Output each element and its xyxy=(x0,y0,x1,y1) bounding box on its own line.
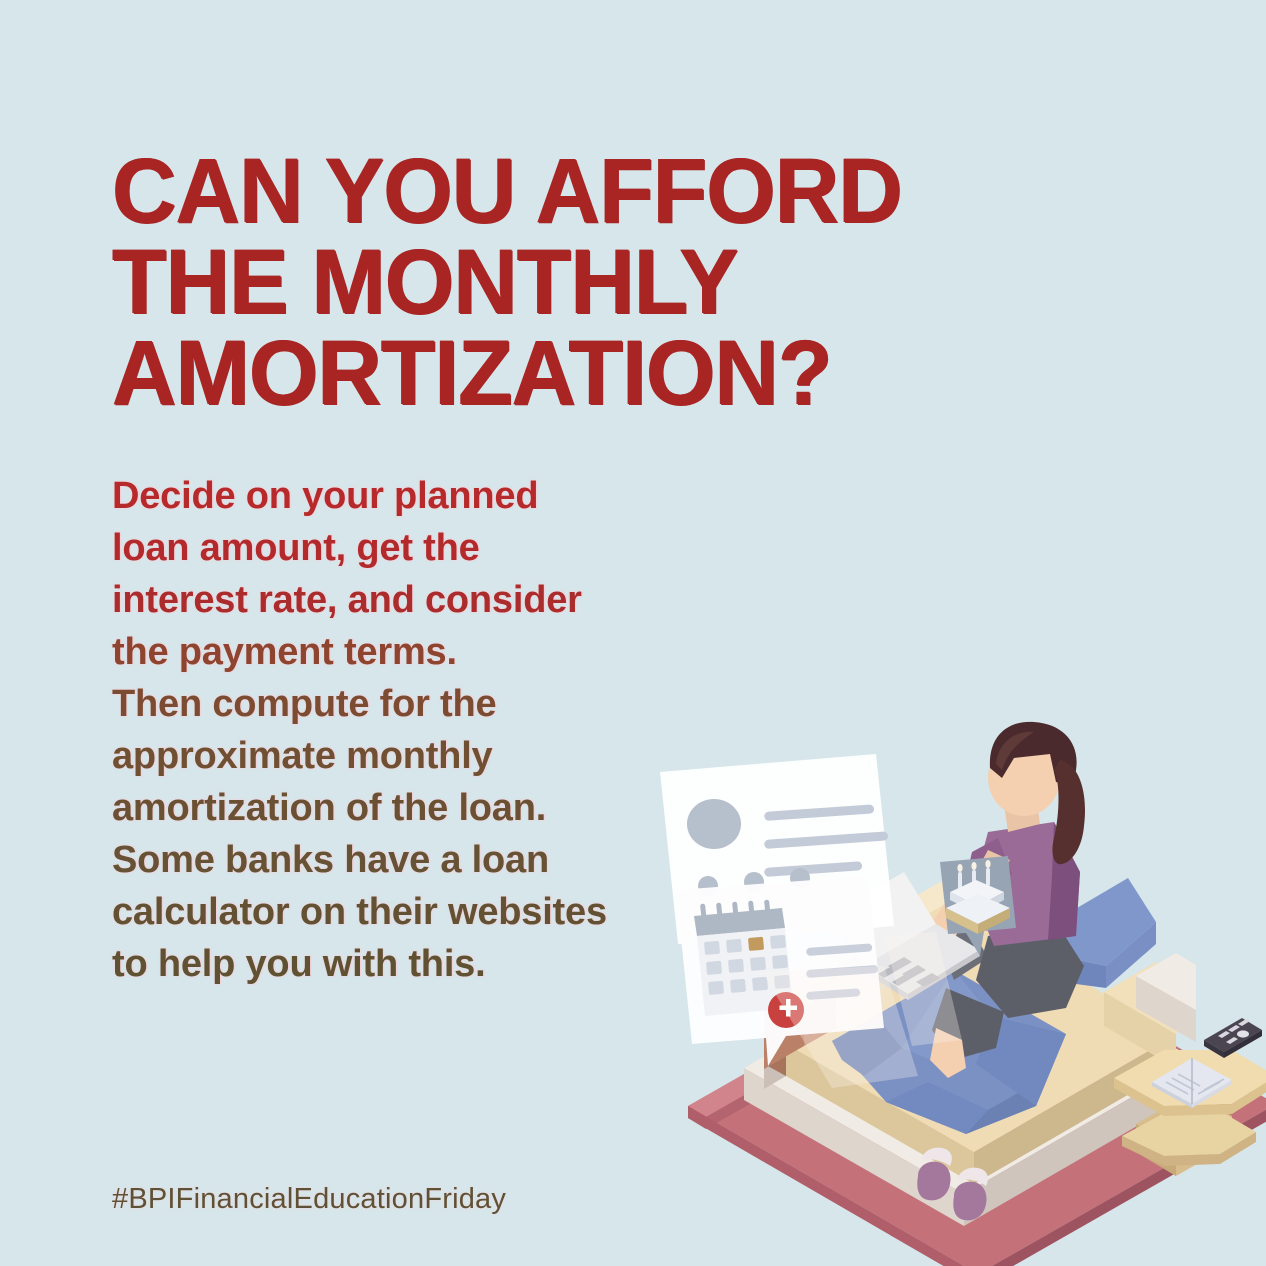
body-line-7: amortization of the loan. xyxy=(112,782,712,834)
body-line-1: Decide on your planned xyxy=(112,470,712,522)
body-line-2: loan amount, get the xyxy=(112,522,712,574)
body-line-9: calculator on their websites xyxy=(112,886,712,938)
body-copy: Decide on your planned loan amount, get … xyxy=(112,470,712,990)
body-line-10: to help you with this. xyxy=(112,938,712,990)
page-title: CAN YOU AFFORD THE MONTHLY AMORTIZATION? xyxy=(112,146,927,419)
headline-line-2: THE MONTHLY xyxy=(112,237,927,328)
body-line-6: approximate monthly xyxy=(112,730,712,782)
illustration-woman-on-bed-with-laptop xyxy=(636,636,1266,1266)
headline-line-1: CAN YOU AFFORD xyxy=(112,146,927,237)
headline-line-3: AMORTIZATION? xyxy=(112,328,927,419)
body-line-4: the payment terms. xyxy=(112,626,712,678)
body-line-8: Some banks have a loan xyxy=(112,834,712,886)
body-line-3: interest rate, and consider xyxy=(112,574,712,626)
body-line-5: Then compute for the xyxy=(112,678,712,730)
hashtag: #BPIFinancialEducationFriday xyxy=(112,1183,506,1216)
poster-canvas: CAN YOU AFFORD THE MONTHLY AMORTIZATION?… xyxy=(0,0,1266,1266)
